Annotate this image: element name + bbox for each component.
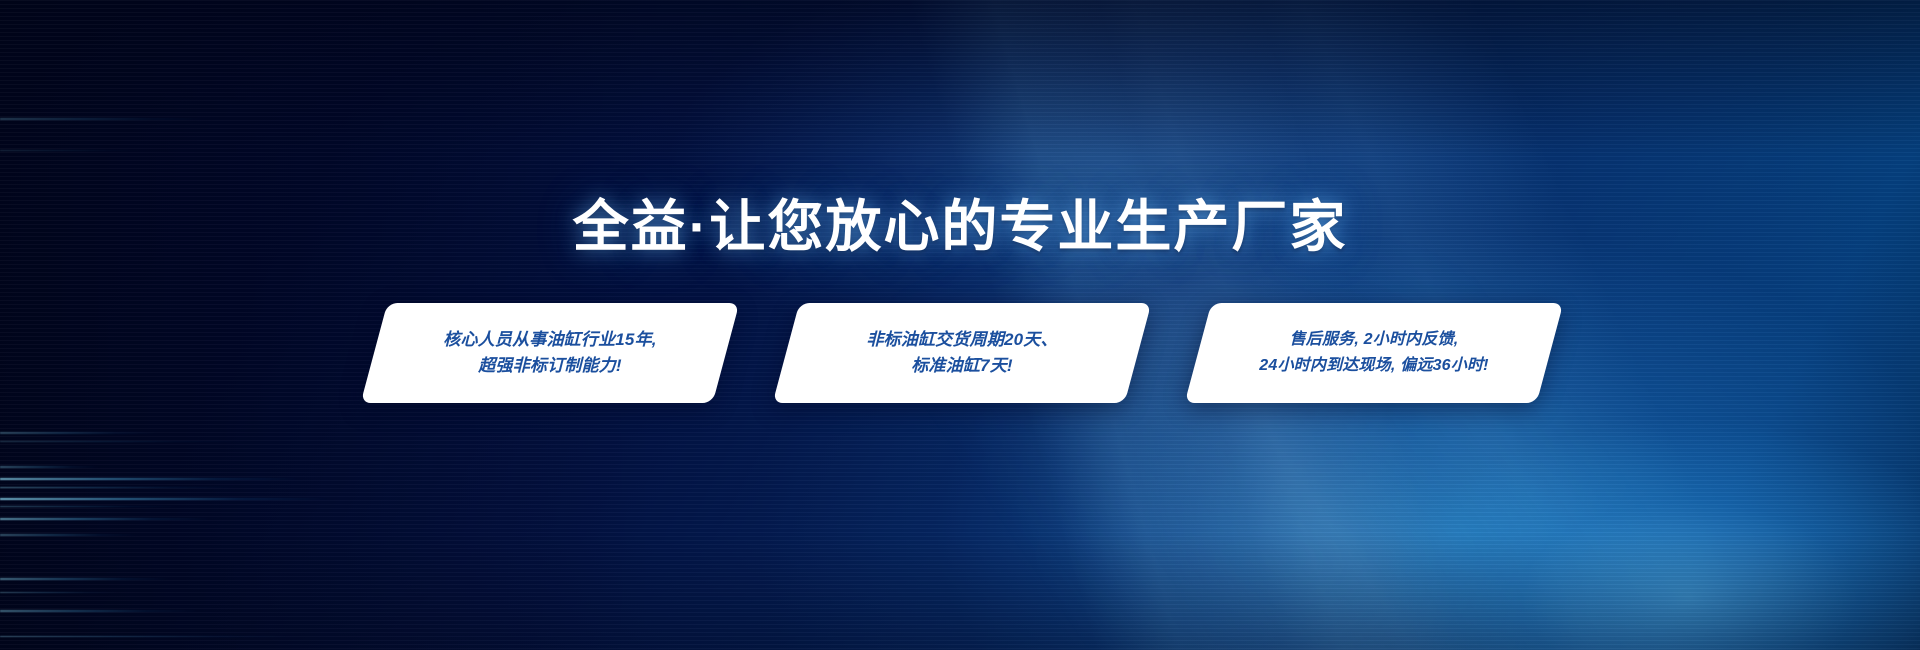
light-streak xyxy=(0,478,300,480)
light-streak xyxy=(0,432,160,434)
feature-card-row: 核心人员从事油缸行业15年, 超强非标订制能力! 非标油缸交货周期20天、 标准… xyxy=(0,303,1920,403)
feature-card-after-sales[interactable]: 售后服务, 2小时内反馈, 24小时内到达现场, 偏远36小时! xyxy=(1185,303,1564,403)
hero-banner: 全益·让您放心的专业生产厂家 核心人员从事油缸行业15年, 超强非标订制能力! … xyxy=(0,0,1920,650)
light-streak xyxy=(0,441,250,442)
light-streak xyxy=(0,518,210,520)
feature-card-delivery[interactable]: 非标油缸交货周期20天、 标准油缸7天! xyxy=(773,303,1152,403)
light-streak xyxy=(0,610,200,612)
light-streak xyxy=(0,466,100,468)
feature-card-experience[interactable]: 核心人员从事油缸行业15年, 超强非标订制能力! xyxy=(361,303,740,403)
light-streak xyxy=(0,487,240,488)
feature-card-text: 非标油缸交货周期20天、 标准油缸7天! xyxy=(786,303,1138,403)
light-streak xyxy=(0,534,140,536)
light-streak xyxy=(0,636,300,637)
light-streak xyxy=(0,150,150,151)
banner-headline: 全益·让您放心的专业生产厂家 xyxy=(0,196,1920,258)
feature-card-text: 核心人员从事油缸行业15年, 超强非标订制能力! xyxy=(374,303,726,403)
light-streak xyxy=(0,118,210,120)
light-streak xyxy=(0,498,330,500)
light-streak xyxy=(0,506,180,507)
light-streak xyxy=(0,578,170,580)
feature-card-text: 售后服务, 2小时内反馈, 24小时内到达现场, 偏远36小时! xyxy=(1198,303,1550,403)
light-streak xyxy=(0,592,120,593)
